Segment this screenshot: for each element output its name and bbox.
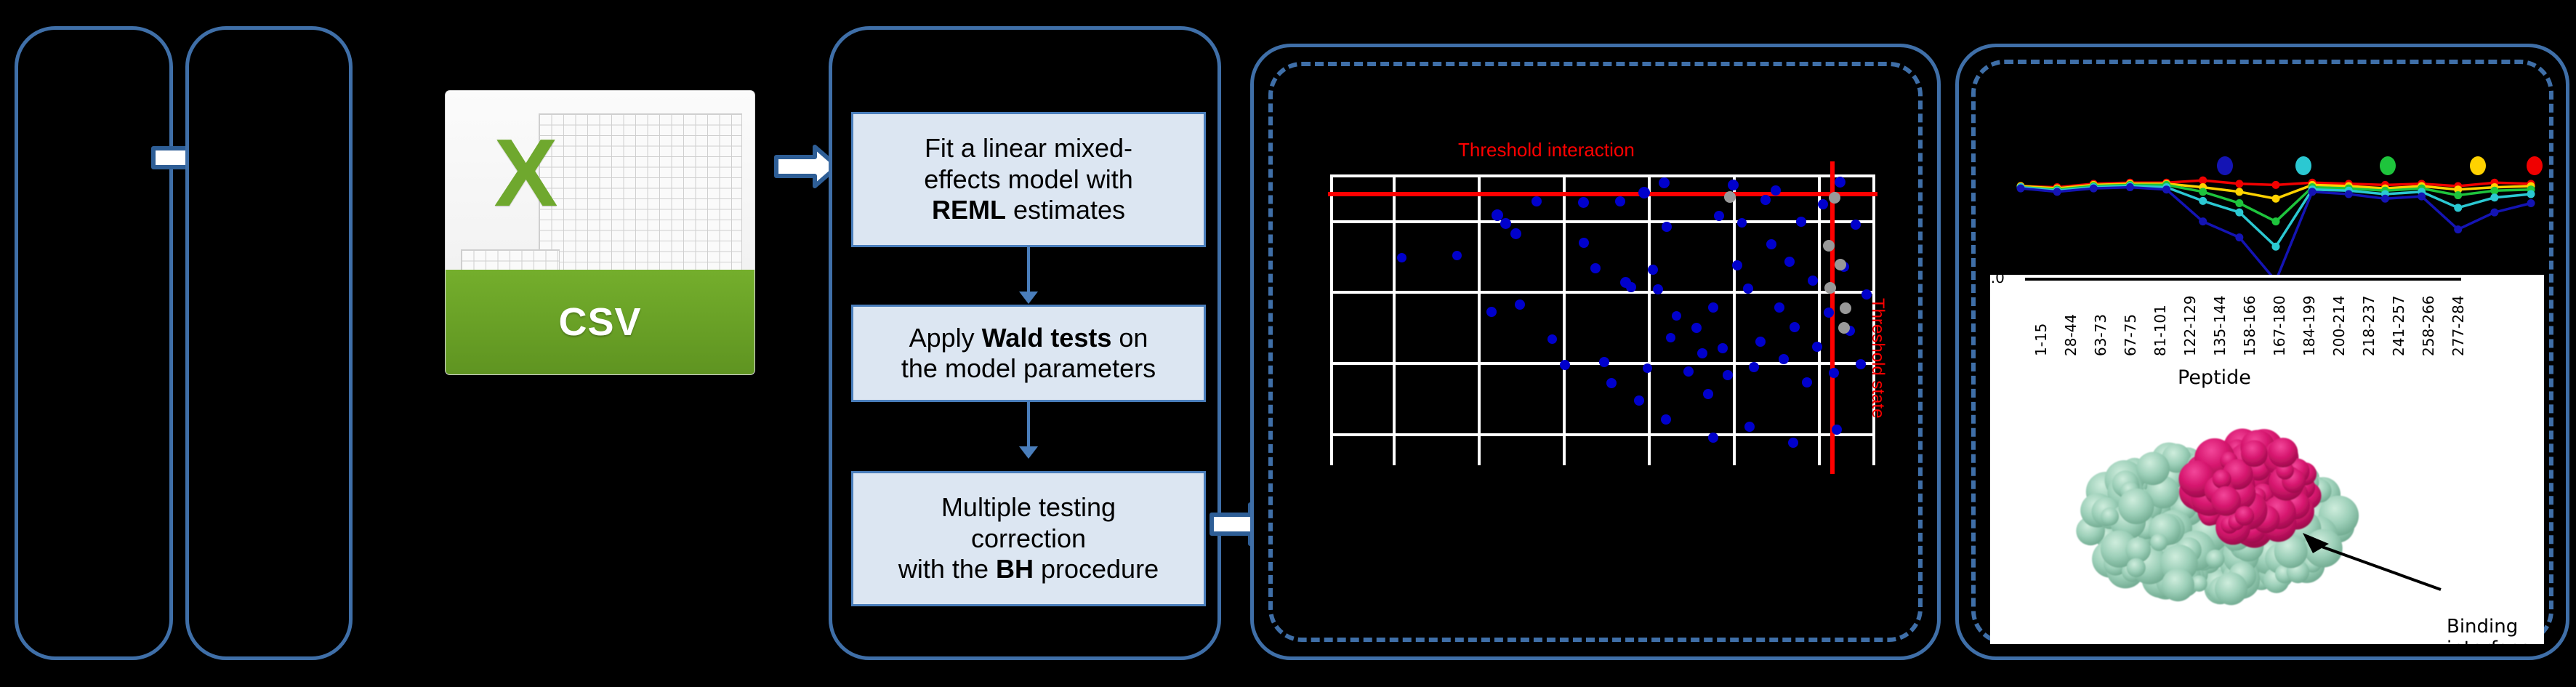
chart-data-point [2272,217,2280,225]
peptide-line-chart [1992,80,2544,284]
binding-interface-line1: Binding [2447,616,2531,638]
peptide-tick-label: 184-199 [2301,295,2318,356]
volcano-plot: Threshold interaction [1287,80,1904,624]
chart-data-point [2235,209,2243,217]
protein-surface-blob [2101,507,2119,526]
input-panel [15,26,173,660]
chart-data-point [2199,177,2207,185]
chart-data-point [2272,195,2280,203]
step-bh-text: Multiple testing correction with the BH … [898,492,1159,584]
step-reml-line3-rest: estimates [1006,195,1125,225]
peptide-tick-label: 81-101 [2152,305,2169,356]
chart-data-point [2235,199,2243,207]
peptide-tick-label: 158-166 [2241,295,2258,356]
protein-surface-blob [2241,440,2268,467]
chart-data-point [2454,204,2462,212]
step-wald-line1-post: on [1111,323,1148,353]
chart-data-point [2527,190,2535,198]
protein-surface-blob [2136,452,2170,486]
step-reml-line1: Fit a linear mixed- [925,133,1132,163]
step-wald-line2: the model parameters [901,353,1156,383]
protein-surface-blob [2127,558,2146,577]
peptide-tick-label: 167-180 [2271,295,2288,356]
protein-surface-blob [2118,489,2154,524]
chart-data-point [2199,217,2207,225]
connector-arrow-1 [1019,292,1038,304]
chart-data-point [2527,199,2535,207]
chart-data-point [2162,185,2170,193]
protein-structure-image [1990,395,2544,649]
chart-data-point [2235,188,2243,196]
excel-x-icon: X [458,100,594,247]
protein-surface-blob [2235,506,2255,526]
binding-interface-line2: interface [2447,638,2531,660]
step-bh-bold: BH [996,554,1034,584]
data-panel [185,26,353,660]
chart-data-point [2235,233,2243,241]
threshold-interaction-line [1328,192,1877,196]
chart-data-point [2490,193,2498,201]
chart-data-point [2199,188,2207,196]
step-bh-box: Multiple testing correction with the BH … [851,471,1206,606]
peptide-tick-label: 28-44 [2062,314,2080,356]
chart-data-point [2235,180,2243,188]
step-reml-line2: effects model with [924,164,1132,194]
chart-data-point [2199,197,2207,205]
chart-data-point [2272,181,2280,189]
x-axis-title: Peptide [2178,366,2251,389]
step-bh-line3-pre: with the [898,554,996,584]
protein-surface-blob [2150,534,2168,551]
peptide-tick-label: 258-266 [2420,295,2437,356]
figure-root: X CSV Fit a linear mixed- effects model … [0,0,2576,687]
peptide-tick-label: 241-257 [2390,295,2407,356]
step-wald-text: Apply Wald tests on the model parameters [901,323,1156,385]
connector-reml-to-wald [1027,247,1030,295]
step-reml-box: Fit a linear mixed- effects model with R… [851,112,1206,247]
step-wald-bold: Wald tests [982,323,1112,353]
peptide-tick-label: 122-129 [2181,295,2199,356]
chart-data-point [2490,187,2498,195]
csv-file-icon: X CSV [446,91,754,374]
peptide-tick-label: 135-144 [2211,295,2229,356]
protein-surface-blob [2268,438,2298,467]
connector-wald-to-bh [1027,402,1030,450]
threshold-interaction-label: Threshold interaction [1458,139,1635,161]
chart-data-point [2126,183,2134,191]
csv-format-label: CSV [558,300,641,345]
protein-surface-blob [2215,572,2247,605]
protein-surface-blob [2206,550,2225,569]
step-reml-bold: REML [932,195,1006,225]
binding-interface-annotation: Binding interface [2447,616,2531,660]
results-figure-card: 0.0 1-1528-4463-7367-7581-101122-129135-… [1990,275,2544,644]
step-wald-box: Apply Wald tests on the model parameters [851,305,1206,402]
connector-arrow-2 [1019,446,1038,459]
peptide-tick-label: 218-237 [2360,295,2378,356]
chart-data-point [2490,209,2498,217]
step-bh-line1: Multiple testing [941,492,1116,522]
csv-format-band: CSV [446,270,754,374]
peptide-tick-label: 1-15 [2032,324,2050,356]
chart-data-point [2053,188,2061,196]
step-bh-line3-post: procedure [1034,554,1159,584]
peptide-series-plot [1992,80,2544,284]
peptide-tick-labels: 1-1528-4463-7367-7581-101122-129135-1441… [1990,275,2544,377]
chart-data-point [2418,193,2426,201]
chart-data-point [2454,191,2462,199]
chart-data-point [2309,188,2317,196]
peptide-tick-label: 200-214 [2330,295,2348,356]
chart-data-point [2090,185,2098,193]
peptide-tick-label: 63-73 [2092,314,2109,356]
step-wald-line1-pre: Apply [909,323,982,353]
chart-data-point [2017,185,2025,193]
protein-surface-blob [2162,569,2194,601]
chart-data-point [2272,243,2280,251]
peptide-tick-label: 67-75 [2122,314,2139,356]
chart-data-point [2345,190,2353,198]
protein-surface-blob [2213,470,2231,489]
step-reml-text: Fit a linear mixed- effects model with R… [924,133,1132,225]
peptide-tick-label: 277-284 [2450,295,2467,356]
step-bh-line2: correction [971,523,1086,553]
threshold-state-label: Threshold state [1867,298,1888,418]
chart-data-point [2381,195,2389,203]
chart-data-point [2454,225,2462,233]
volcano-grid [1330,174,1875,465]
